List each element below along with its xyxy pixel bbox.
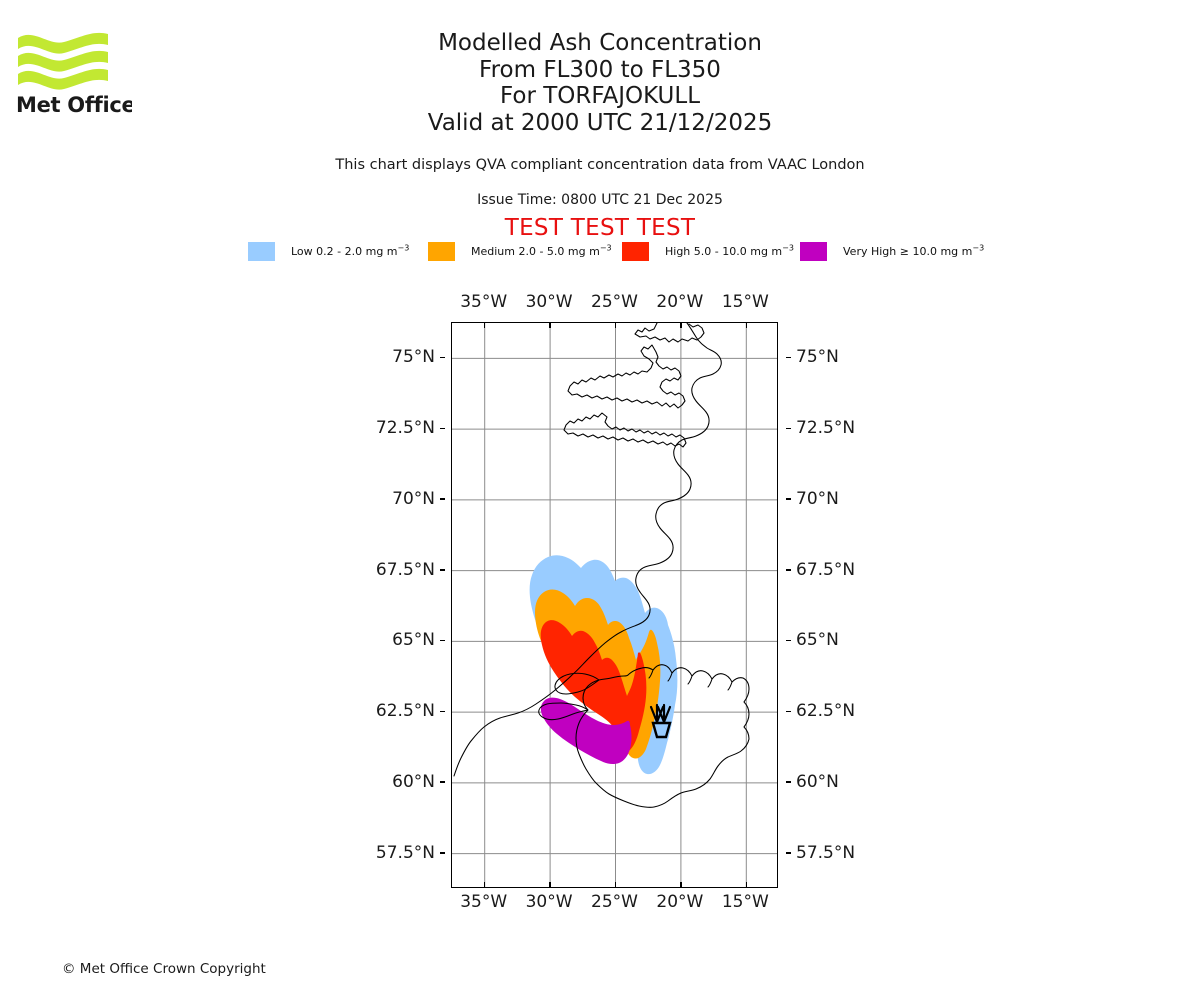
title-line-2: From FL300 to FL350 bbox=[0, 57, 1200, 84]
x-tick-label-30W: 30°W bbox=[526, 292, 573, 312]
y-tick-mark bbox=[440, 781, 445, 782]
y-tick-mark bbox=[440, 428, 445, 429]
legend-swatch-high bbox=[622, 242, 649, 261]
y-tick-mark bbox=[786, 357, 791, 358]
greenland-coastline bbox=[564, 323, 704, 447]
y-tick-mark bbox=[786, 852, 791, 853]
x-tick-mark bbox=[680, 323, 681, 328]
title-line-4: Valid at 2000 UTC 21/12/2025 bbox=[0, 110, 1200, 137]
legend-label-medium-sup: −3 bbox=[600, 243, 612, 252]
x-tick-label-20W: 20°W bbox=[656, 892, 703, 912]
y-axis-left: 57.5°N60°N62.5°N65°N67.5°N70°N72.5°N75°N bbox=[359, 322, 445, 888]
y-tick-label-725N: 72.5°N bbox=[376, 418, 435, 438]
y-tick-label-60N: 60°N bbox=[796, 772, 839, 792]
y-tick-label-675N: 67.5°N bbox=[376, 560, 435, 580]
legend-item-low: Low 0.2 - 2.0 mg m−3 bbox=[248, 240, 409, 262]
chart-subtitle-block: This chart displays QVA compliant concen… bbox=[0, 157, 1200, 173]
y-tick-mark bbox=[440, 357, 445, 358]
legend-label-low-sup: −3 bbox=[398, 243, 410, 252]
x-tick-label-35W: 35°W bbox=[460, 292, 507, 312]
ash-plume-contours bbox=[530, 555, 678, 774]
y-tick-mark bbox=[786, 781, 791, 782]
y-tick-label-625N: 62.5°N bbox=[796, 701, 855, 721]
issue-time: Issue Time: 0800 UTC 21 Dec 2025 bbox=[0, 192, 1200, 208]
y-tick-mark bbox=[440, 569, 445, 570]
x-tick-label-30W: 30°W bbox=[526, 892, 573, 912]
y-tick-label-75N: 75°N bbox=[796, 347, 839, 367]
x-tick-label-25W: 25°W bbox=[591, 892, 638, 912]
x-tick-mark bbox=[680, 882, 681, 887]
y-tick-mark bbox=[786, 640, 791, 641]
x-tick-label-25W: 25°W bbox=[591, 292, 638, 312]
legend-label-high-text: High 5.0 - 10.0 mg m bbox=[665, 245, 782, 258]
y-tick-label-625N: 62.5°N bbox=[376, 701, 435, 721]
y-tick-mark bbox=[440, 852, 445, 853]
x-tick-label-20W: 20°W bbox=[656, 292, 703, 312]
y-tick-mark bbox=[786, 569, 791, 570]
x-tick-label-35W: 35°W bbox=[460, 892, 507, 912]
y-tick-mark bbox=[786, 498, 791, 499]
y-tick-mark bbox=[440, 498, 445, 499]
legend-swatch-very-high bbox=[800, 242, 827, 261]
y-axis-right: 57.5°N60°N62.5°N65°N67.5°N70°N72.5°N75°N bbox=[786, 322, 872, 888]
legend-label-low: Low 0.2 - 2.0 mg m−3 bbox=[291, 245, 409, 258]
y-tick-label-70N: 70°N bbox=[796, 489, 839, 509]
chart-description: This chart displays QVA compliant concen… bbox=[0, 157, 1200, 173]
legend-swatch-medium bbox=[428, 242, 455, 261]
y-tick-label-60N: 60°N bbox=[392, 772, 435, 792]
map-canvas bbox=[452, 323, 778, 888]
y-tick-label-675N: 67.5°N bbox=[796, 560, 855, 580]
legend-item-medium: Medium 2.0 - 5.0 mg m−3 bbox=[428, 240, 612, 262]
legend-item-high: High 5.0 - 10.0 mg m−3 bbox=[622, 240, 794, 262]
x-tick-label-15W: 15°W bbox=[722, 292, 769, 312]
x-tick-mark bbox=[484, 882, 485, 887]
y-tick-label-70N: 70°N bbox=[392, 489, 435, 509]
x-tick-mark bbox=[549, 882, 550, 887]
legend-label-very-high-text: Very High ≥ 10.0 mg m bbox=[843, 245, 972, 258]
x-tick-mark bbox=[549, 323, 550, 328]
title-line-1: Modelled Ash Concentration bbox=[0, 30, 1200, 57]
legend-label-very-high-sup: −3 bbox=[972, 243, 984, 252]
x-tick-mark bbox=[746, 323, 747, 328]
x-axis-top: 35°W30°W25°W20°W15°W bbox=[451, 292, 778, 314]
y-tick-label-575N: 57.5°N bbox=[376, 843, 435, 863]
copyright-notice: © Met Office Crown Copyright bbox=[62, 961, 266, 977]
x-tick-label-15W: 15°W bbox=[722, 892, 769, 912]
x-tick-mark bbox=[746, 882, 747, 887]
legend-swatch-low bbox=[248, 242, 275, 261]
title-line-3: For TORFAJOKULL bbox=[0, 83, 1200, 110]
y-tick-mark bbox=[786, 711, 791, 712]
legend-label-medium: Medium 2.0 - 5.0 mg m−3 bbox=[471, 245, 612, 258]
legend-label-very-high: Very High ≥ 10.0 mg m−3 bbox=[843, 245, 984, 258]
x-axis-bottom: 35°W30°W25°W20°W15°W bbox=[451, 892, 778, 914]
legend-label-low-text: Low 0.2 - 2.0 mg m bbox=[291, 245, 398, 258]
map-plot-frame bbox=[451, 322, 778, 888]
y-tick-label-575N: 57.5°N bbox=[796, 843, 855, 863]
y-tick-mark bbox=[440, 711, 445, 712]
legend-item-very-high: Very High ≥ 10.0 mg m−3 bbox=[800, 240, 984, 262]
x-tick-mark bbox=[615, 882, 616, 887]
y-tick-mark bbox=[440, 640, 445, 641]
y-tick-label-65N: 65°N bbox=[392, 630, 435, 650]
test-banner: TEST TEST TEST bbox=[0, 215, 1200, 241]
legend-label-high-sup: −3 bbox=[782, 243, 794, 252]
x-tick-mark bbox=[484, 323, 485, 328]
x-tick-mark bbox=[615, 323, 616, 328]
chart-title-block: Modelled Ash Concentration From FL300 to… bbox=[0, 30, 1200, 136]
y-tick-label-75N: 75°N bbox=[392, 347, 435, 367]
legend-label-high: High 5.0 - 10.0 mg m−3 bbox=[665, 245, 794, 258]
ash-concentration-map[interactable] bbox=[451, 322, 778, 888]
y-tick-label-65N: 65°N bbox=[796, 630, 839, 650]
legend-label-medium-text: Medium 2.0 - 5.0 mg m bbox=[471, 245, 600, 258]
y-tick-label-725N: 72.5°N bbox=[796, 418, 855, 438]
y-tick-mark bbox=[786, 428, 791, 429]
concentration-legend: Low 0.2 - 2.0 mg m−3 Medium 2.0 - 5.0 mg… bbox=[0, 240, 1200, 262]
greenland-east-coast-line bbox=[636, 323, 722, 625]
